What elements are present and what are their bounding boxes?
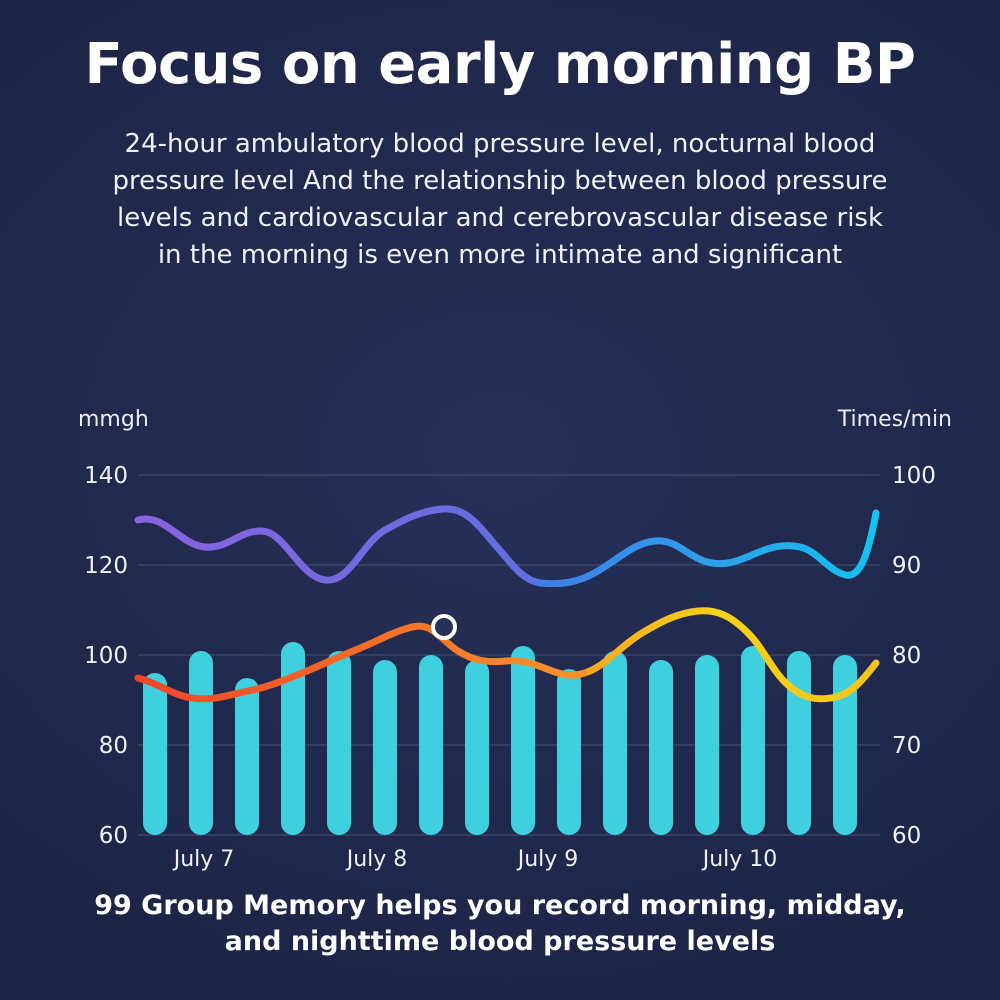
bar — [787, 651, 811, 835]
bar — [649, 660, 673, 835]
line-systolic-night — [138, 509, 540, 583]
page-subtitle: 24-hour ambulatory blood pressure level,… — [110, 126, 890, 274]
bar — [833, 655, 857, 835]
bar — [235, 678, 259, 835]
bar — [695, 655, 719, 835]
bar — [373, 660, 397, 835]
highlight-marker-icon[interactable] — [433, 616, 455, 638]
line-systolic-day — [540, 513, 876, 584]
bar — [511, 646, 535, 835]
bar — [189, 651, 213, 835]
bar — [419, 655, 443, 835]
bar-series — [143, 642, 857, 835]
infographic-root: Focus on early morning BP 24-hour ambula… — [0, 0, 1000, 1000]
bp-chart: mmgh Times/min 140 120 100 80 60 100 90 … — [0, 395, 1000, 865]
chart-plot-svg — [0, 395, 1000, 865]
footer-caption: 99 Group Memory helps you record morning… — [90, 888, 910, 961]
bar — [143, 673, 167, 835]
bar — [327, 651, 351, 835]
bar — [741, 646, 765, 835]
bar — [557, 669, 581, 835]
page-title: Focus on early morning BP — [0, 36, 1000, 95]
bar — [603, 651, 627, 835]
bar — [465, 660, 489, 835]
